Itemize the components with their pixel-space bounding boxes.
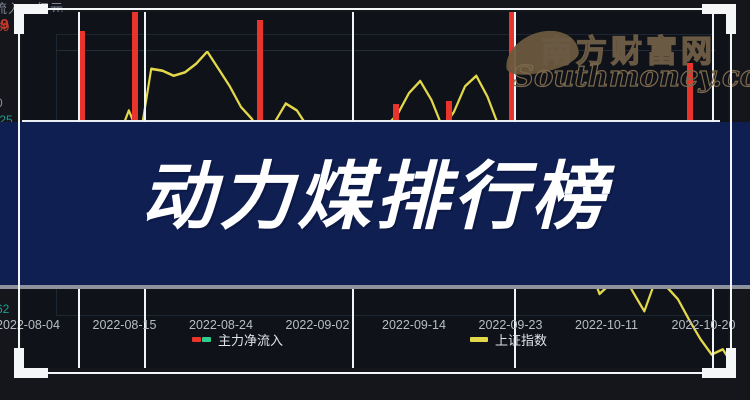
photo-frame <box>18 8 732 374</box>
y-axis-label: 0 <box>0 96 3 110</box>
screenshot-root: 流入：亿元 89 890.2564462 2022-08-042022-08-1… <box>0 0 750 400</box>
frame-corner-bl2 <box>14 348 24 378</box>
frame-corner-br2 <box>726 348 736 378</box>
frame-corner-tl2 <box>14 4 24 34</box>
y-axis-label: 89 <box>0 20 9 34</box>
y-axis-label: 62 <box>0 302 9 316</box>
frame-corner-tr2 <box>726 4 736 34</box>
